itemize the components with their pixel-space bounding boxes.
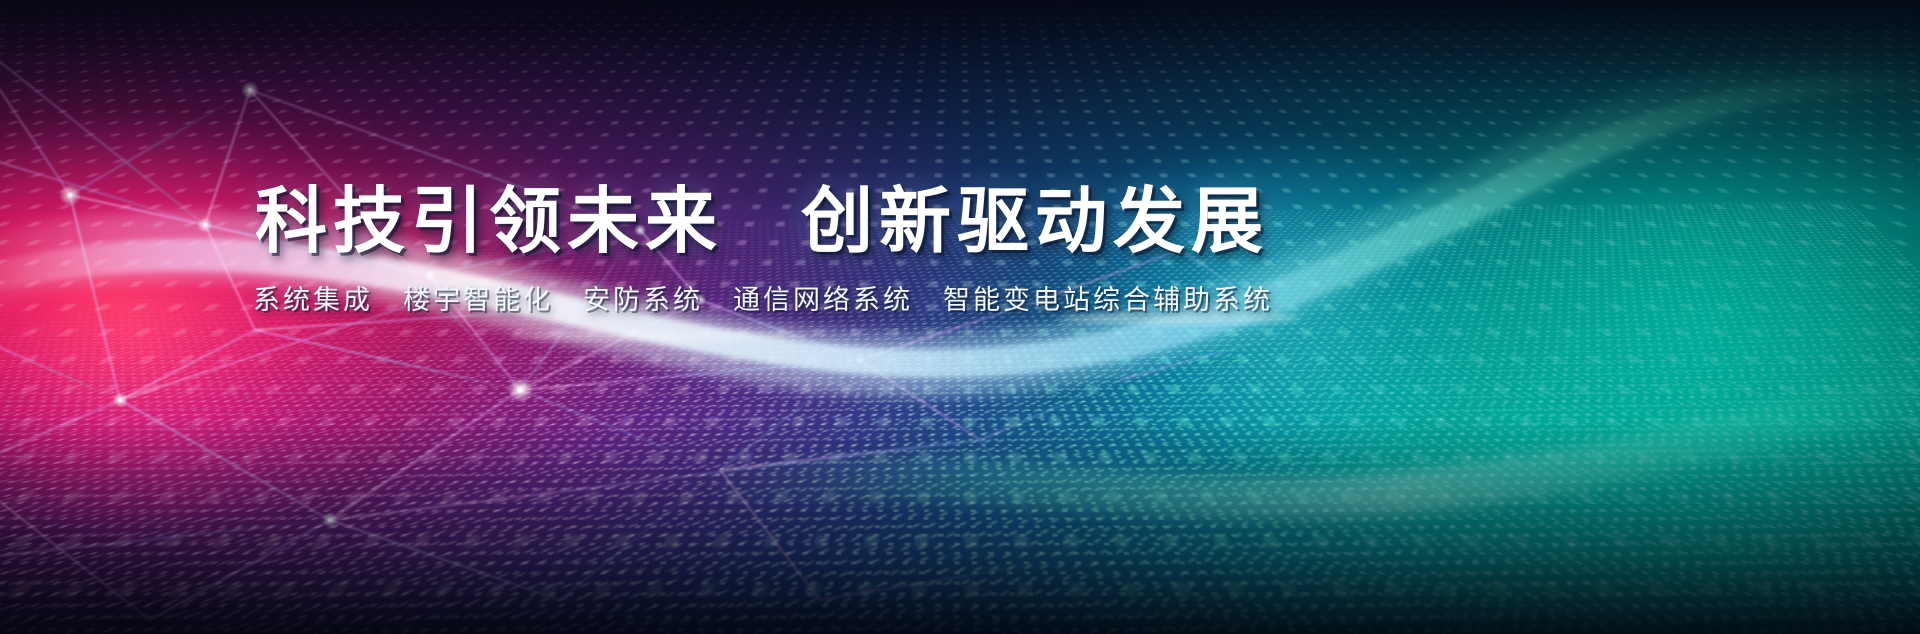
banner-text-block: 科技引领未来 创新驱动发展 系统集成 楼宇智能化 安防系统 通信网络系统 智能变… <box>0 0 1920 634</box>
banner-subheadline: 系统集成 楼宇智能化 安防系统 通信网络系统 智能变电站综合辅助系统 <box>253 287 1273 314</box>
tech-hero-banner: 科技引领未来 创新驱动发展 系统集成 楼宇智能化 安防系统 通信网络系统 智能变… <box>0 0 1920 634</box>
banner-headline: 科技引领未来 创新驱动发展 <box>255 186 1269 258</box>
